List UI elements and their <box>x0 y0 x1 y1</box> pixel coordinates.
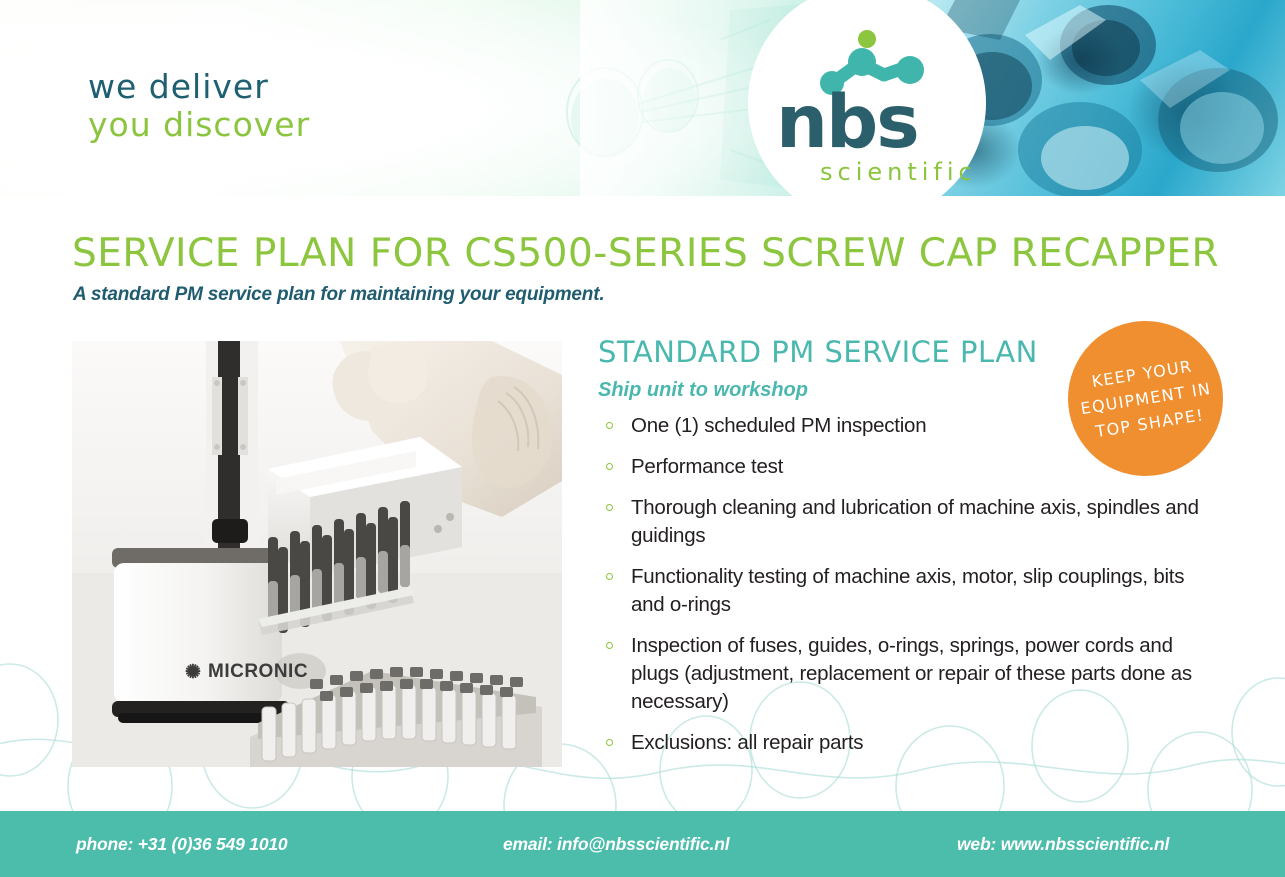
bullet-icon <box>606 573 613 580</box>
footer-email[interactable]: email: info@nbsscientific.nl <box>503 834 729 855</box>
list-item-text: Inspection of fuses, guides, o-rings, sp… <box>631 634 1192 713</box>
tagline-line-2: you discover <box>88 108 310 141</box>
header-banner: we deliver you discover nbs scientific <box>0 0 1285 196</box>
micronic-logo-icon: ✺ <box>185 661 201 684</box>
micronic-brand-label: MICRONIC <box>208 661 308 683</box>
logo-tagline: scientific <box>820 158 977 186</box>
list-item: Inspection of fuses, guides, o-rings, sp… <box>598 632 1218 716</box>
logo-wordmark: nbs <box>776 86 918 159</box>
tagline: we deliver you discover <box>88 70 310 141</box>
list-item-text: Exclusions: all repair parts <box>631 731 863 754</box>
tagline-line-1: we deliver <box>88 70 310 103</box>
footer-web[interactable]: web: www.nbsscientific.nl <box>957 834 1169 855</box>
promo-badge-text: Keep your equipment in top shape! <box>1075 351 1217 446</box>
product-photo: ✺ MICRONIC <box>72 341 562 767</box>
nbs-logo: nbs scientific <box>748 0 986 196</box>
bullet-icon <box>606 739 613 746</box>
list-item-text: Functionality testing of machine axis, m… <box>631 565 1184 616</box>
page-subtitle: A standard PM service plan for maintaini… <box>73 283 604 307</box>
bullet-icon <box>606 422 613 429</box>
page-title: SERVICE PLAN FOR CS500-SERIES SCREW CAP … <box>72 232 1219 276</box>
list-item: Thorough cleaning and lubrication of mac… <box>598 494 1218 550</box>
footer-bar: phone: +31 (0)36 549 1010 email: info@nb… <box>0 811 1285 877</box>
list-item-text: Thorough cleaning and lubrication of mac… <box>631 496 1199 547</box>
promo-badge: Keep your equipment in top shape! <box>1068 321 1223 476</box>
list-item-text: Performance test <box>631 455 783 478</box>
bullet-icon <box>606 463 613 470</box>
list-item: Functionality testing of machine axis, m… <box>598 563 1218 619</box>
bullet-icon <box>606 642 613 649</box>
bullet-icon <box>606 504 613 511</box>
flyer-page: we deliver you discover nbs scientific <box>0 0 1285 877</box>
list-item-text: One (1) scheduled PM inspection <box>631 414 926 437</box>
list-item: Exclusions: all repair parts <box>598 729 1218 757</box>
footer-phone[interactable]: phone: +31 (0)36 549 1010 <box>76 834 287 855</box>
